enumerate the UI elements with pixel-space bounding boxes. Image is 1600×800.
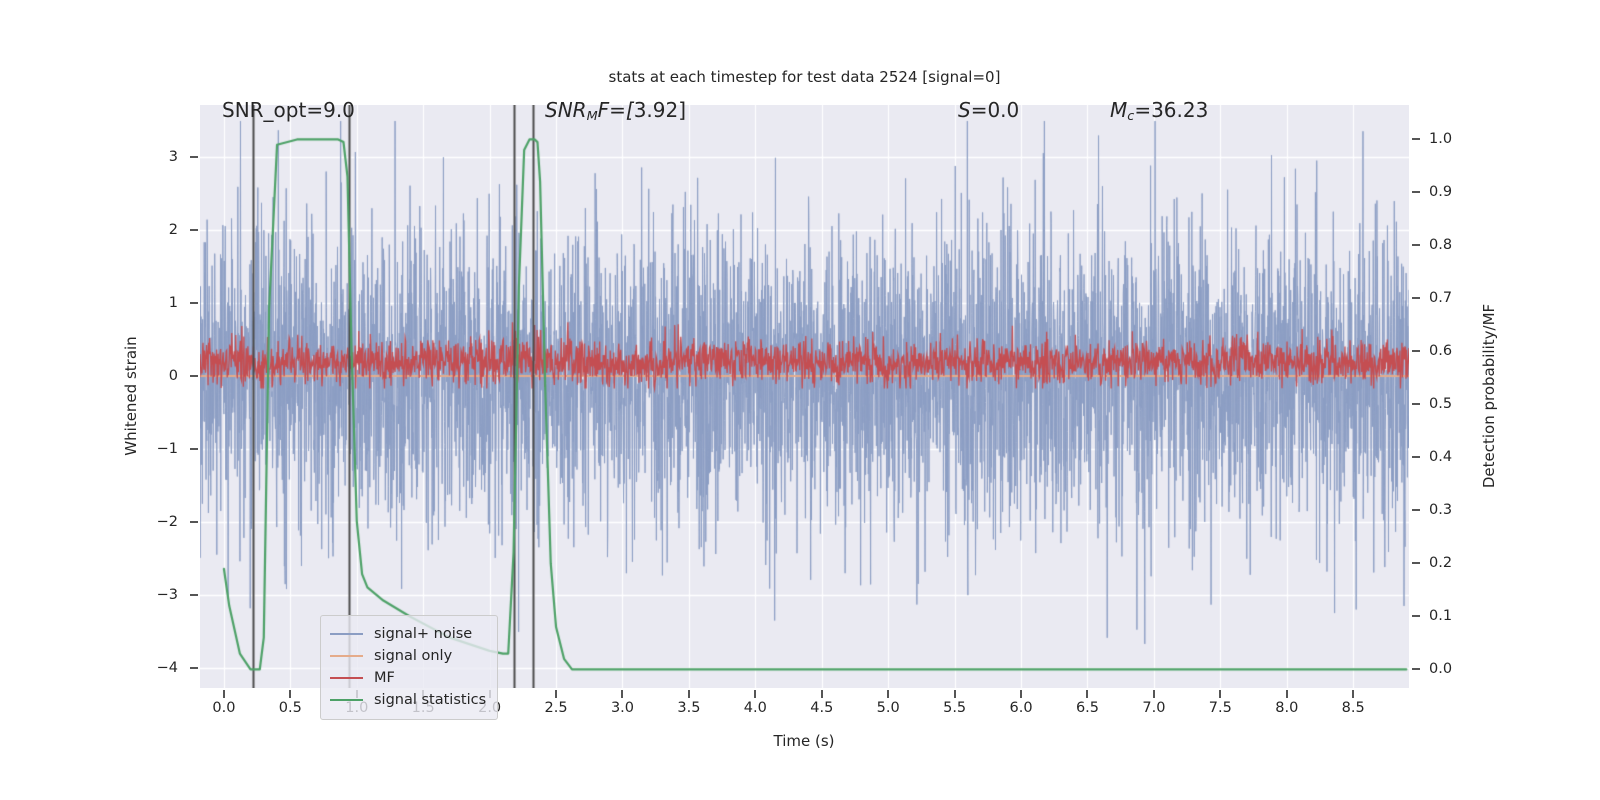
y-tick-mark-right — [1412, 191, 1420, 193]
x-tick-mark — [223, 690, 225, 698]
legend-item[interactable]: signal+ noise — [330, 623, 486, 645]
annotation-snr-mf: SNRMF=[3.92] — [545, 100, 686, 124]
legend[interactable]: signal+ noise signal only MF signal stat… — [320, 615, 498, 720]
y-tick-label-left: 2 — [120, 222, 178, 238]
annotation-s-statistic: S=0.0 — [958, 100, 1019, 120]
x-tick-mark — [555, 690, 557, 698]
y-tick-label-left: −3 — [120, 587, 178, 603]
y-tick-label-right: 0.6 — [1429, 343, 1452, 359]
y-tick-mark-left — [190, 156, 198, 158]
x-tick-label: 5.0 — [877, 700, 900, 716]
y-tick-label-right: 0.8 — [1429, 237, 1452, 253]
legend-swatch-signal-noise — [330, 633, 363, 635]
x-tick-label: 5.5 — [943, 700, 966, 716]
y-tick-mark-right — [1412, 138, 1420, 140]
x-tick-mark — [1286, 690, 1288, 698]
y-tick-mark-left — [190, 667, 198, 669]
y-tick-mark-left — [190, 521, 198, 523]
y-tick-mark-right — [1412, 509, 1420, 511]
y-tick-mark-left — [190, 375, 198, 377]
legend-label: signal statistics — [374, 692, 486, 708]
legend-item[interactable]: MF — [330, 667, 486, 689]
y-tick-label-right: 1.0 — [1429, 131, 1452, 147]
legend-swatch-signal-statistics — [330, 699, 363, 701]
x-tick-mark — [1020, 690, 1022, 698]
y-tick-label-right: 0.4 — [1429, 449, 1452, 465]
x-tick-mark — [954, 690, 956, 698]
x-tick-mark — [1219, 690, 1221, 698]
legend-item[interactable]: signal statistics — [330, 689, 486, 711]
y-tick-label-right: 0.2 — [1429, 555, 1452, 571]
y-tick-mark-left — [190, 594, 198, 596]
x-tick-mark — [1153, 690, 1155, 698]
x-tick-label: 4.0 — [744, 700, 767, 716]
x-tick-mark — [1352, 690, 1354, 698]
x-tick-mark — [821, 690, 823, 698]
y-tick-label-right: 0.7 — [1429, 290, 1452, 306]
x-tick-mark — [1086, 690, 1088, 698]
y-tick-mark-left — [190, 229, 198, 231]
legend-label: signal only — [374, 648, 452, 664]
x-tick-mark — [688, 690, 690, 698]
x-tick-mark — [621, 690, 623, 698]
x-tick-label: 4.5 — [810, 700, 833, 716]
x-tick-mark — [289, 690, 291, 698]
y-tick-label-right: 0.0 — [1429, 661, 1452, 677]
y-tick-label-left: 3 — [120, 149, 178, 165]
x-tick-label: 8.0 — [1275, 700, 1298, 716]
x-tick-label: 7.0 — [1142, 700, 1165, 716]
y-tick-mark-right — [1412, 615, 1420, 617]
y-tick-label-right: 0.1 — [1429, 608, 1452, 624]
x-tick-label: 7.5 — [1209, 700, 1232, 716]
annotation-chirp-mass: Mc=36.23 — [1110, 100, 1208, 124]
x-tick-label: 3.5 — [677, 700, 700, 716]
y-tick-label-left: −2 — [120, 514, 178, 530]
y-tick-label-left: 1 — [120, 295, 178, 311]
figure-root: stats at each timestep for test data 252… — [0, 0, 1600, 800]
plot-canvas[interactable] — [200, 105, 1409, 688]
x-tick-mark — [887, 690, 889, 698]
y-tick-label-left: 0 — [120, 368, 178, 384]
legend-label: MF — [374, 670, 395, 686]
x-tick-label: 2.5 — [545, 700, 568, 716]
y-axis-label-right: Detection probability/MF — [1480, 304, 1498, 488]
legend-swatch-mf — [330, 677, 363, 679]
x-tick-label: 0.0 — [212, 700, 235, 716]
y-tick-label-left: −1 — [120, 441, 178, 457]
y-tick-mark-right — [1412, 403, 1420, 405]
x-tick-label: 0.5 — [279, 700, 302, 716]
x-tick-label: 6.5 — [1076, 700, 1099, 716]
annotation-snr-opt: SNR_opt=9.0 — [222, 100, 355, 120]
y-tick-mark-right — [1412, 350, 1420, 352]
y-tick-mark-right — [1412, 456, 1420, 458]
plot-area[interactable] — [200, 105, 1409, 688]
x-tick-label: 8.5 — [1342, 700, 1365, 716]
y-axis-label-left: Whitened strain — [122, 336, 140, 455]
y-tick-label-right: 0.5 — [1429, 396, 1452, 412]
x-tick-label: 6.0 — [1010, 700, 1033, 716]
legend-swatch-signal-only — [330, 655, 363, 657]
y-tick-label-left: −4 — [120, 660, 178, 676]
y-tick-mark-right — [1412, 668, 1420, 670]
y-tick-mark-left — [190, 448, 198, 450]
x-tick-label: 3.0 — [611, 700, 634, 716]
legend-label: signal+ noise — [374, 626, 472, 642]
y-tick-mark-left — [190, 302, 198, 304]
y-tick-label-right: 0.9 — [1429, 184, 1452, 200]
page-title: stats at each timestep for test data 252… — [200, 68, 1409, 86]
y-tick-mark-right — [1412, 297, 1420, 299]
x-tick-mark — [754, 690, 756, 698]
x-axis-label: Time (s) — [774, 732, 835, 750]
y-tick-mark-right — [1412, 244, 1420, 246]
legend-item[interactable]: signal only — [330, 645, 486, 667]
y-tick-label-right: 0.3 — [1429, 502, 1452, 518]
y-tick-mark-right — [1412, 562, 1420, 564]
